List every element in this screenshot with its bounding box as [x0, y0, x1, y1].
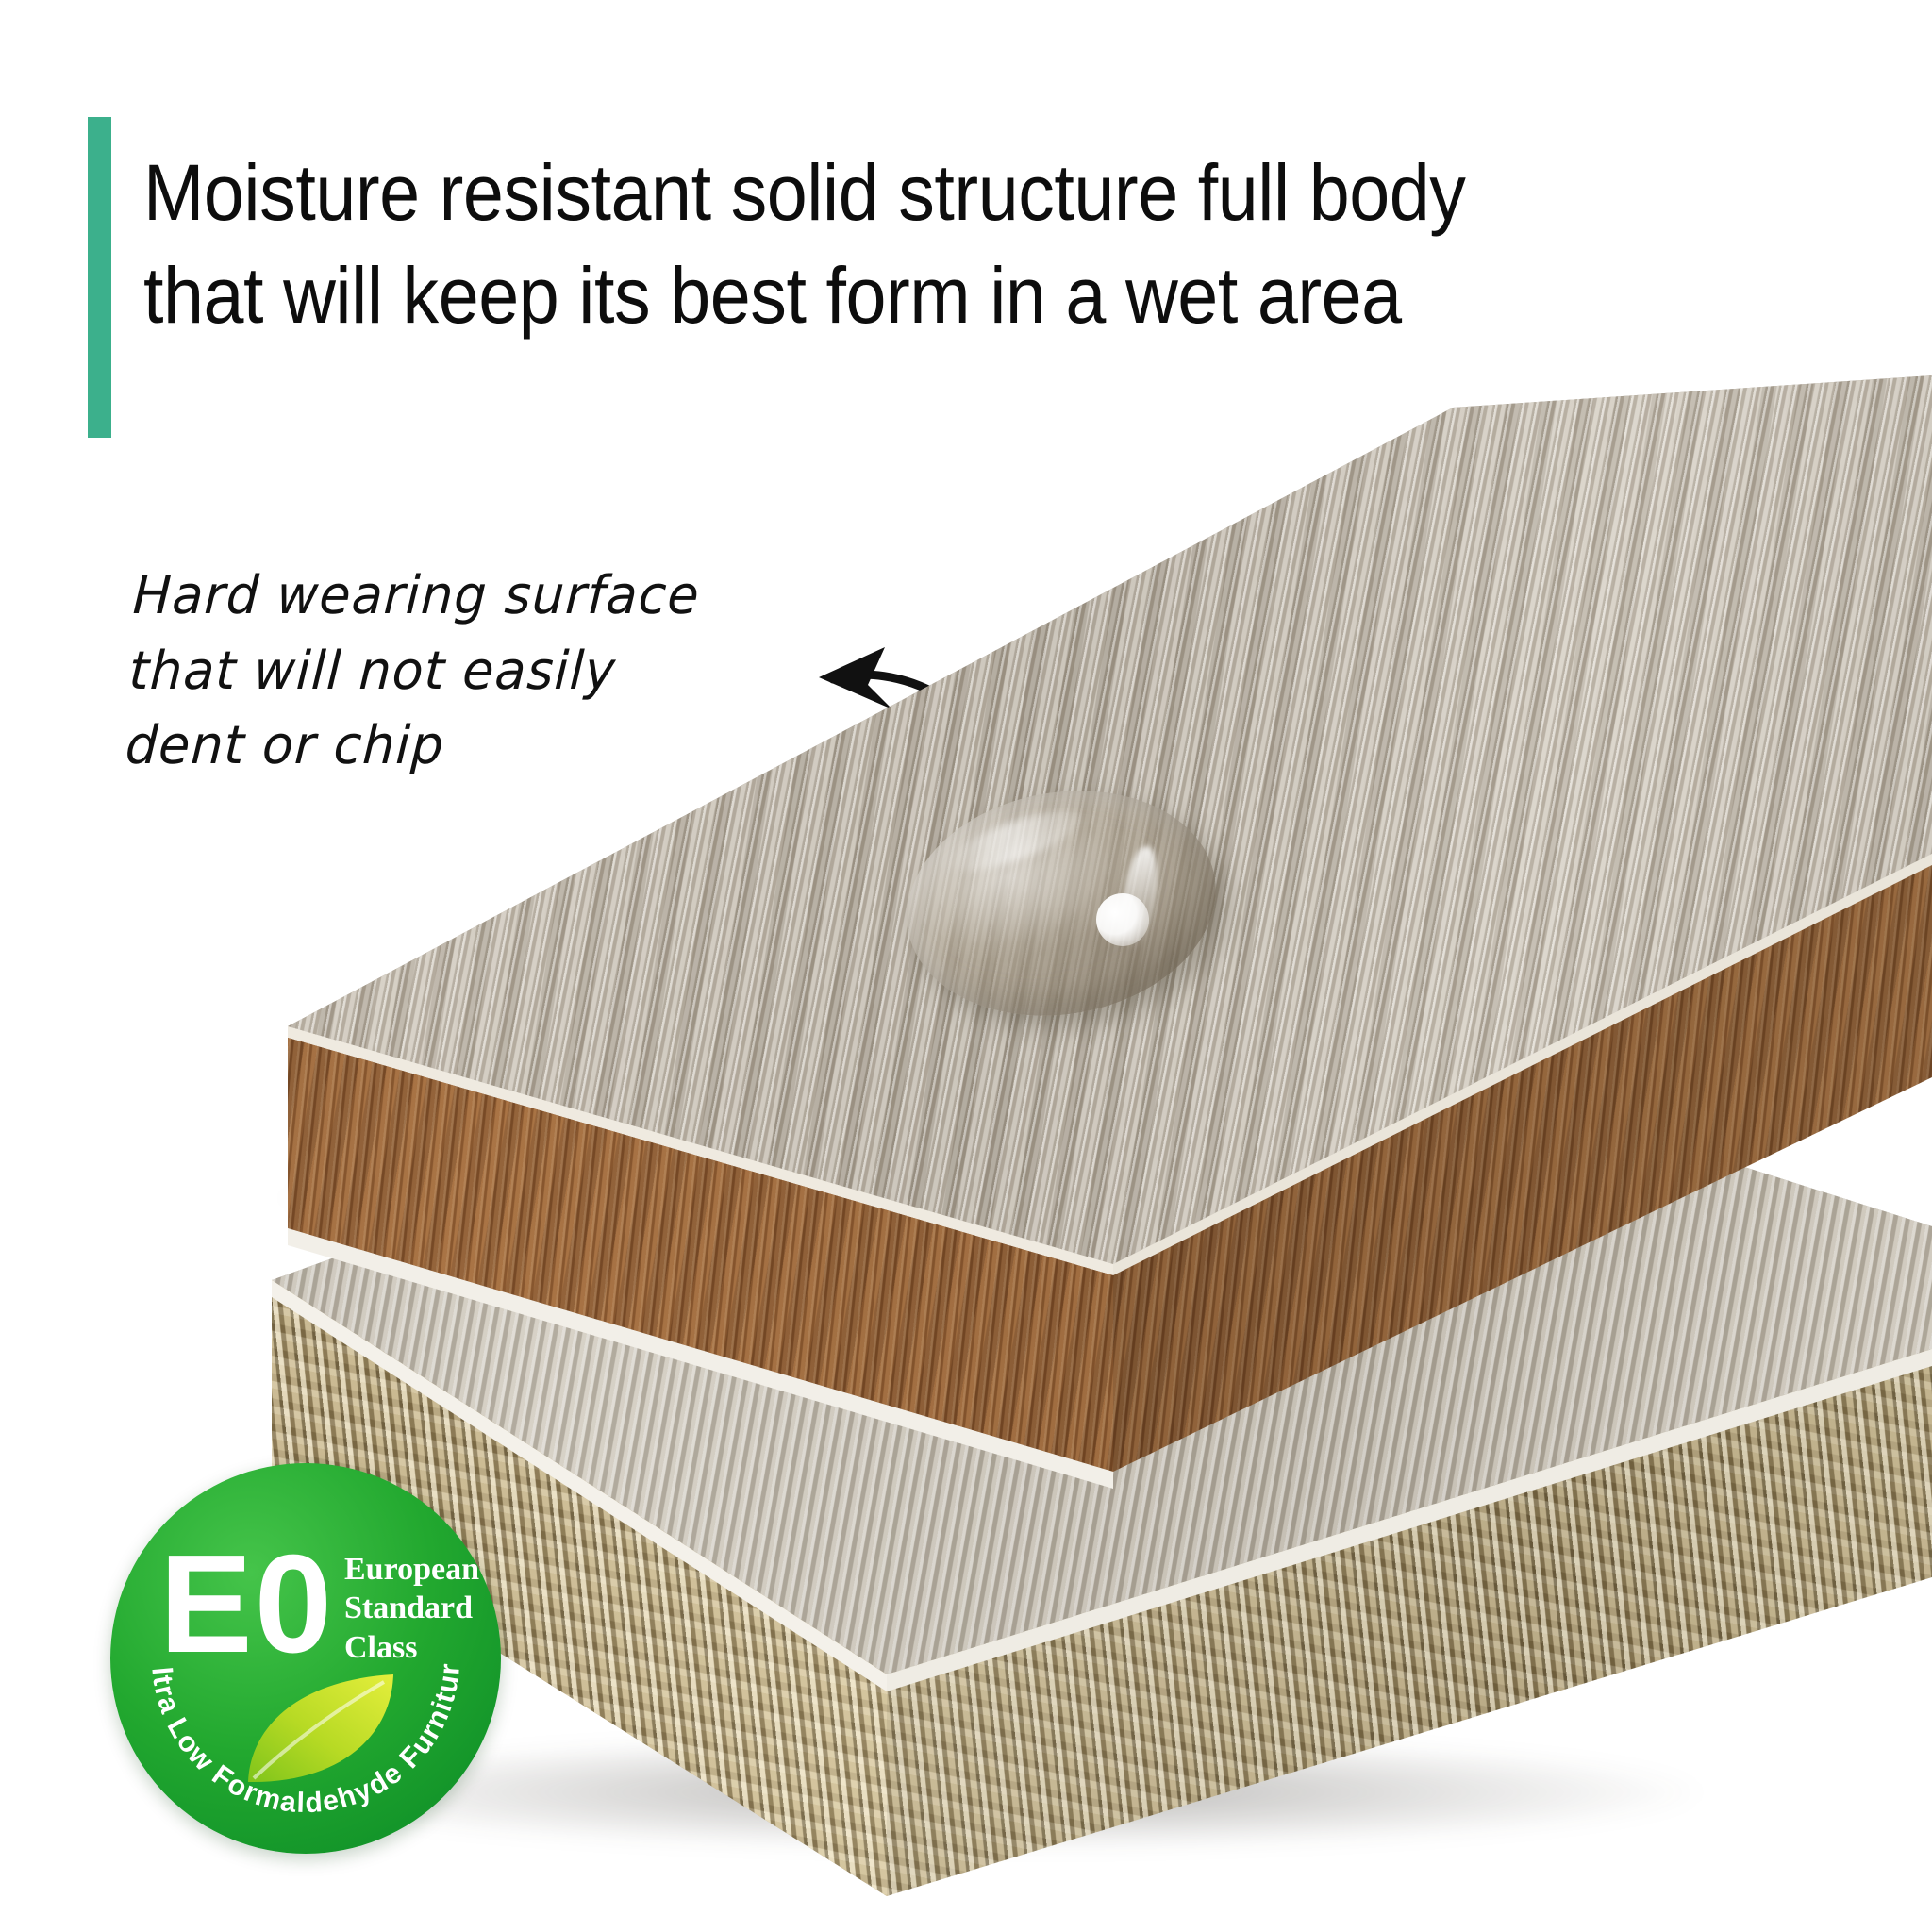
page-title: Moisture resistant solid structure full … — [143, 142, 1671, 347]
eo-badge-ring-text: Ultra Low Formaldehyde Furniture — [110, 1463, 501, 1854]
upper-board-shadow — [283, 1146, 1396, 1250]
product-feature-infographic: Moisture resistant solid structure full … — [0, 0, 1932, 1932]
eo-badge-ring-label: Ultra Low Formaldehyde Furniture — [110, 1463, 466, 1819]
eo-certification-badge: E0 European Standard Class Ultra Low For… — [110, 1463, 501, 1854]
headline-accent-bar — [88, 117, 111, 438]
svg-text:Ultra Low Formaldehyde Furnitu: Ultra Low Formaldehyde Furniture — [110, 1463, 466, 1819]
